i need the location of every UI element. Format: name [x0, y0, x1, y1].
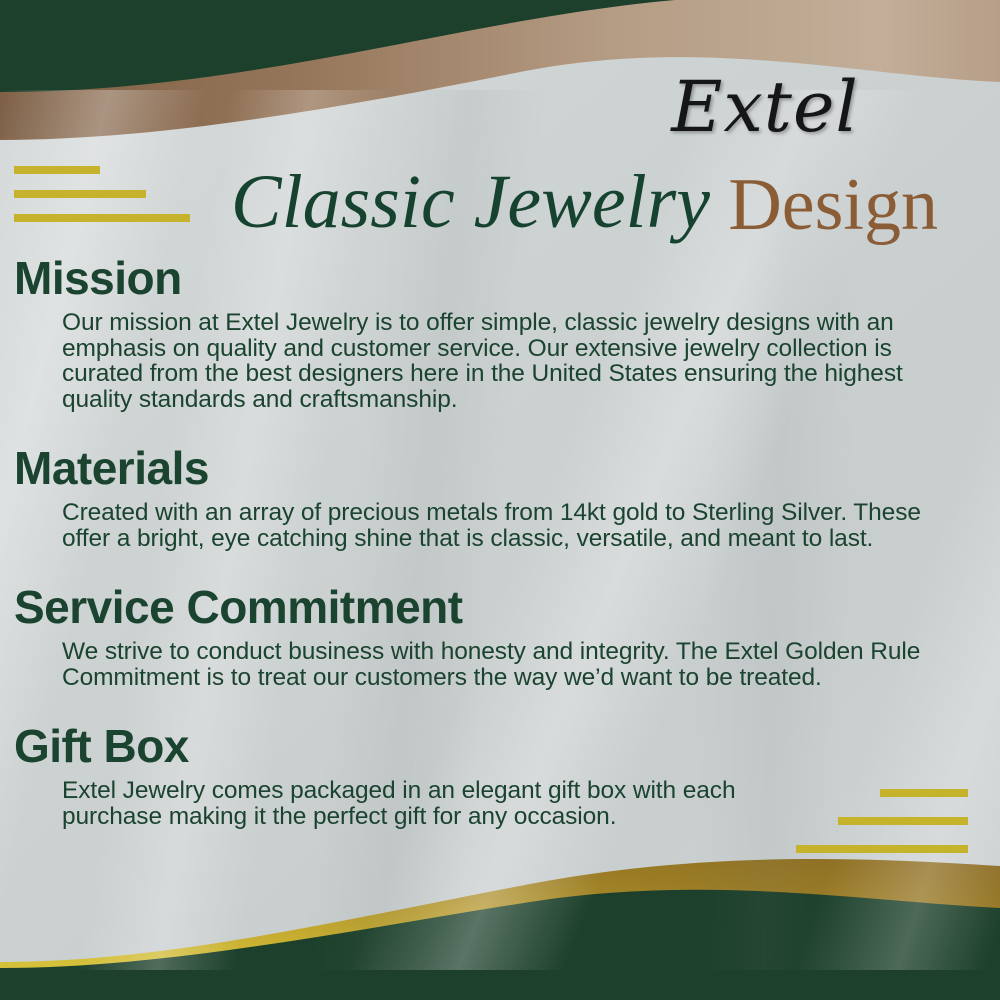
section-gift-box: Gift Box Extel Jewelry comes packaged in…: [0, 718, 1000, 829]
section-body-materials: Created with an array of precious metals…: [0, 496, 1000, 551]
section-body-gift-box: Extel Jewelry comes packaged in an elega…: [0, 774, 812, 829]
poster-canvas: Extel Classic Jewelry Design Mission Our…: [0, 0, 1000, 1000]
title-classic-jewelry: Classic Jewelry: [231, 156, 710, 248]
gold-rule-long: [14, 214, 190, 222]
gold-rule-short: [14, 166, 100, 174]
poster-title: Classic Jewelry Design: [0, 156, 1000, 248]
section-heading-mission: Mission: [0, 250, 1000, 306]
section-materials: Materials Created with an array of preci…: [0, 440, 1000, 551]
section-heading-gift-box: Gift Box: [0, 718, 1000, 774]
section-body-mission: Our mission at Extel Jewelry is to offer…: [0, 306, 1000, 412]
section-body-service-commitment: We strive to conduct business with hones…: [0, 635, 1000, 690]
section-mission: Mission Our mission at Extel Jewelry is …: [0, 250, 1000, 412]
gold-rule-medium: [14, 190, 146, 198]
gold-rule-long: [796, 845, 968, 853]
section-service-commitment: Service Commitment We strive to conduct …: [0, 579, 1000, 690]
brand-logo: Extel: [600, 72, 930, 142]
title-design: Design: [728, 159, 938, 251]
content-sections: Mission Our mission at Extel Jewelry is …: [0, 250, 1000, 829]
section-heading-service-commitment: Service Commitment: [0, 579, 1000, 635]
section-heading-materials: Materials: [0, 440, 1000, 496]
